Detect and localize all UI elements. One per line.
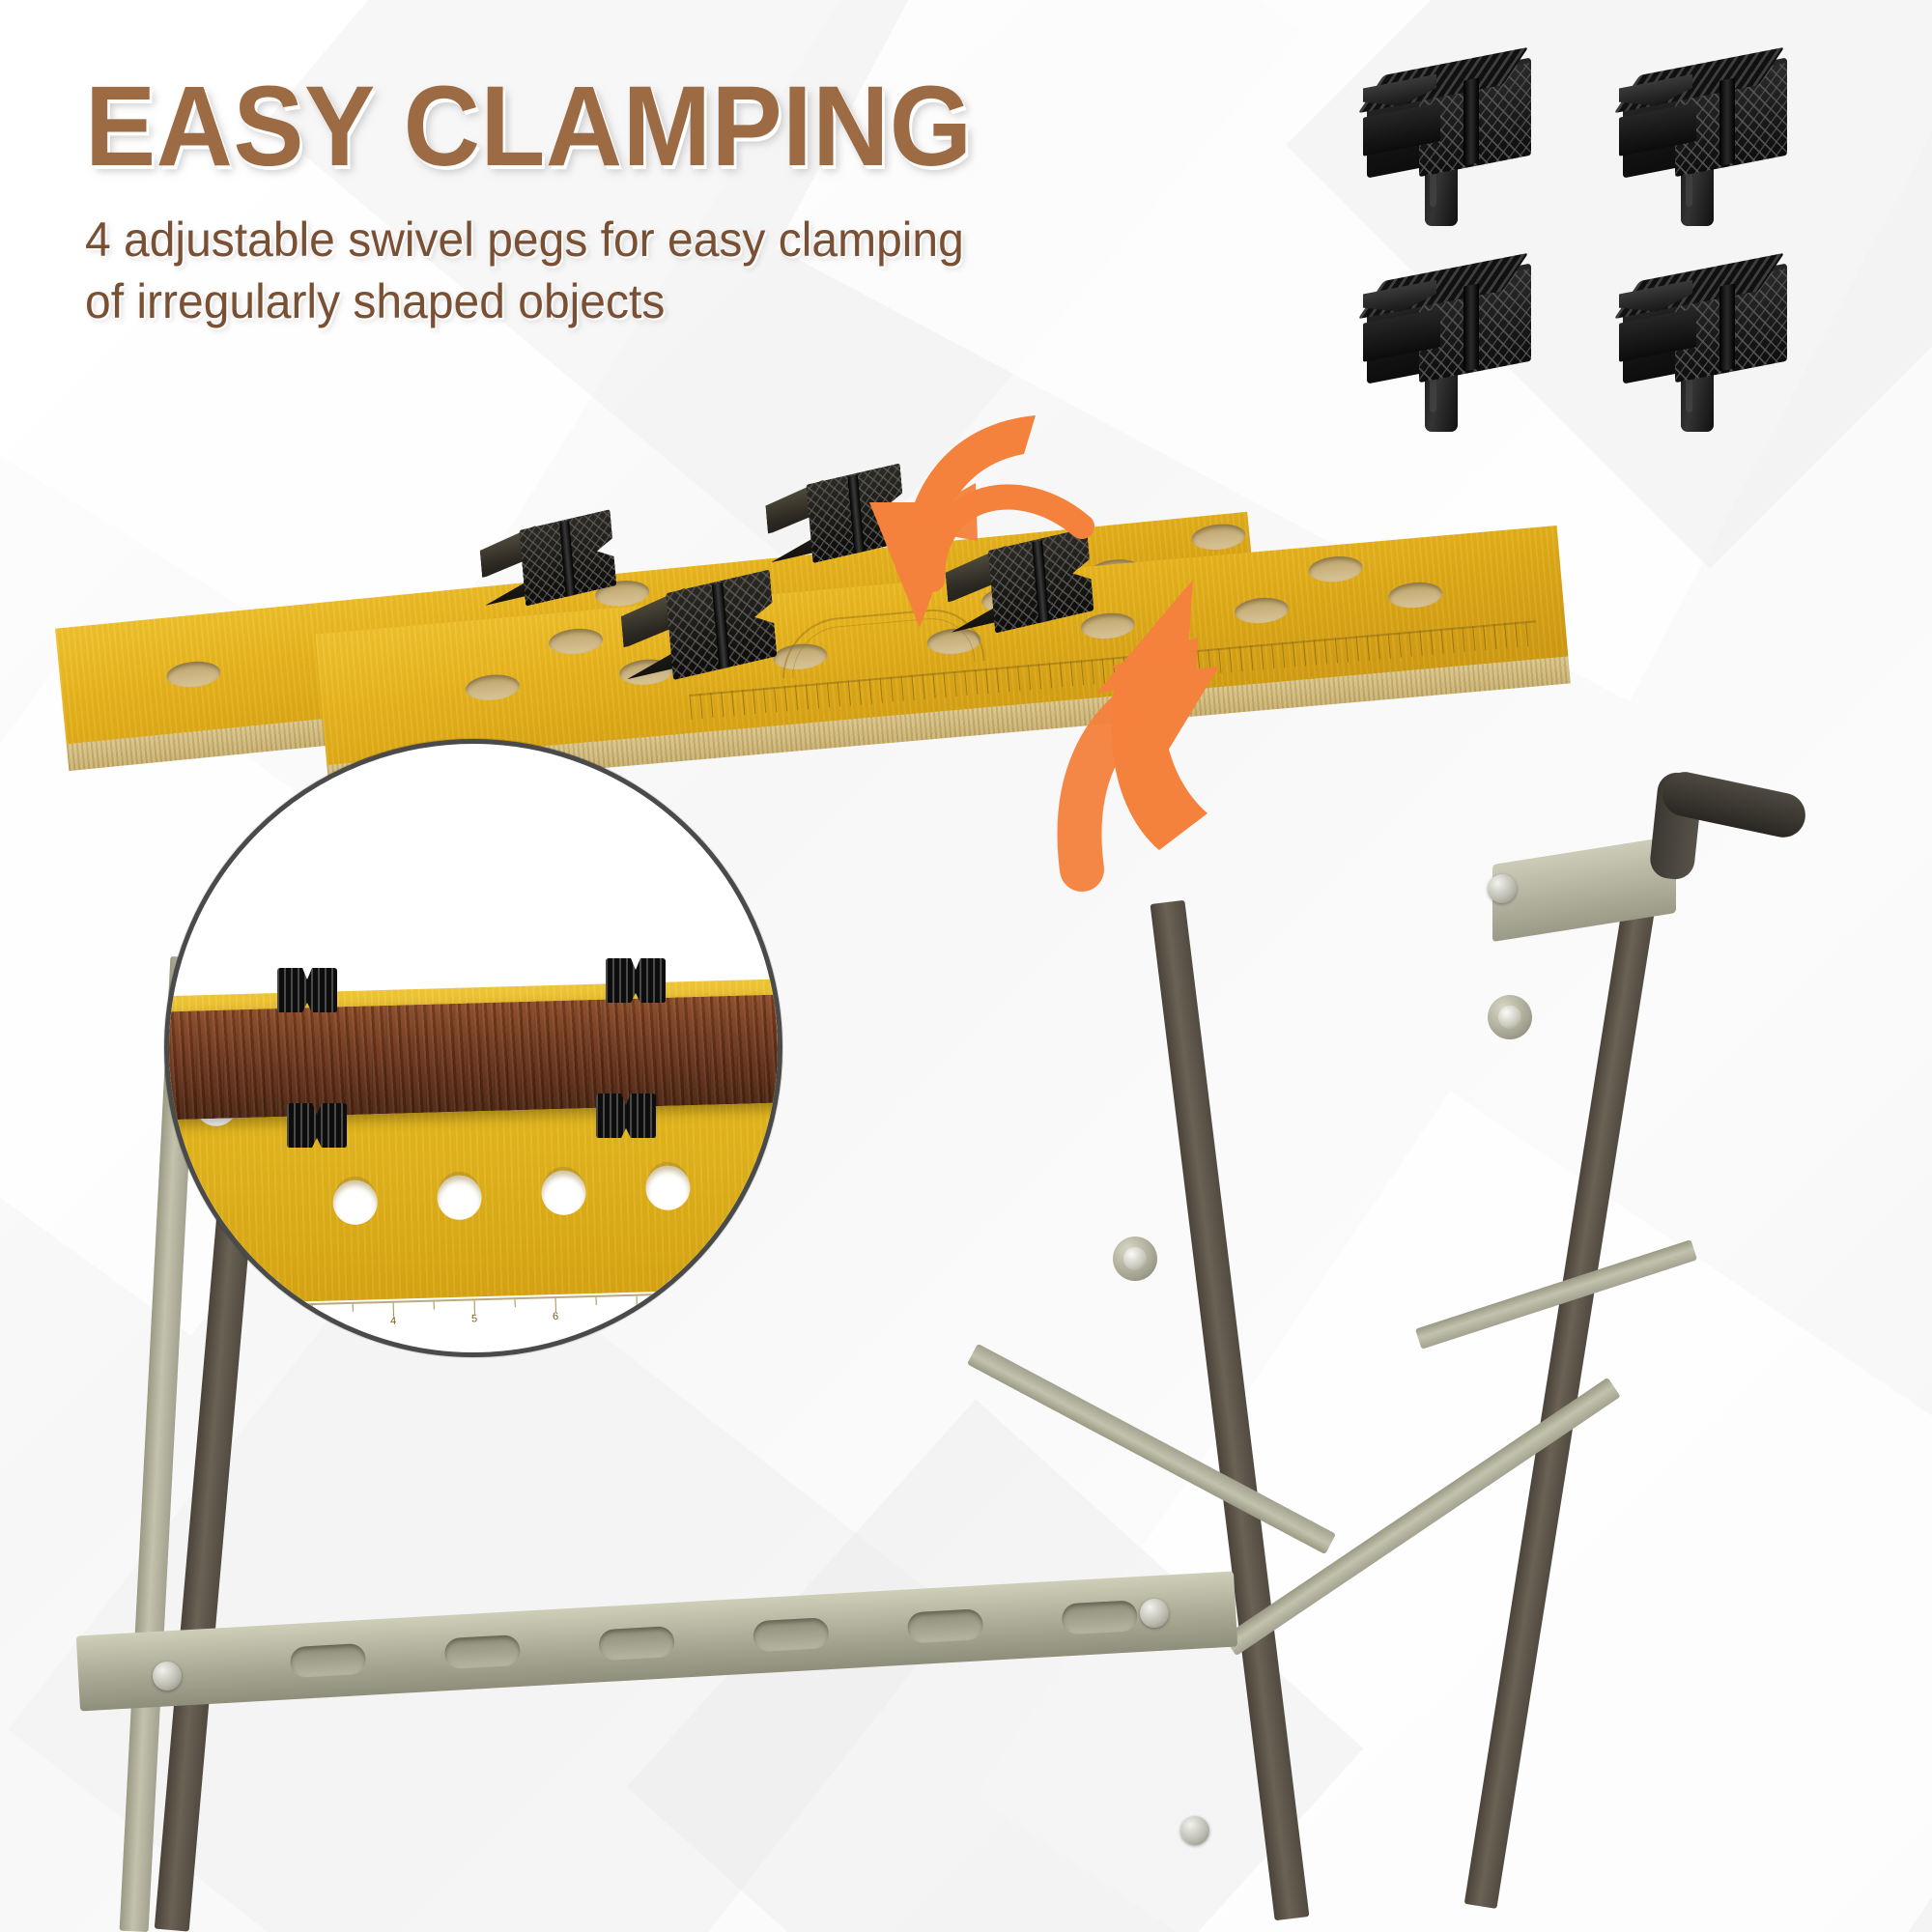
brace-slot (444, 1634, 522, 1669)
subtitle-line-2: of irregularly shaped objects (85, 270, 1012, 332)
peg-icon (1355, 262, 1548, 431)
headline-block: EASY CLAMPING 4 adjustable swivel pegs f… (85, 70, 1051, 332)
magnified-detail-circle: 1 2 3 4 5 6 7 8 9 (164, 739, 782, 1357)
bolt (153, 1662, 182, 1690)
bench-peg-3 (618, 577, 778, 683)
bench-peg-1 (478, 516, 618, 609)
pegboard-hole (645, 1165, 691, 1210)
pegboard-hole (332, 1179, 378, 1225)
inset-peg-top-right (606, 958, 666, 1003)
inset-peg-bottom-left (287, 1103, 347, 1148)
peg-icon (1611, 262, 1804, 431)
plank-hole (1190, 522, 1246, 552)
swivel-peg-3 (1348, 256, 1594, 456)
swivel-peg-2 (1604, 50, 1850, 250)
peg-groove (1719, 283, 1735, 371)
brace-slot (907, 1608, 984, 1643)
plank-hole (465, 672, 521, 702)
plank-hole (1308, 554, 1364, 584)
pegboard-hole (541, 1170, 586, 1215)
peg-groove (1463, 283, 1479, 371)
subtitle-line-1: 4 adjustable swivel pegs for easy clampi… (85, 209, 1012, 270)
inset-peg-top-left (277, 968, 337, 1012)
inset-clamped-wood (164, 993, 782, 1122)
swivel-peg-1 (1348, 50, 1594, 250)
bench-peg-2 (763, 469, 908, 565)
pegboard-hole (750, 1160, 782, 1206)
bench-peg-4 (943, 535, 1094, 637)
brace-slot (1062, 1600, 1139, 1634)
brace-slot (290, 1643, 367, 1678)
pivot-joint-right (1113, 1236, 1157, 1281)
inset-clamp-left (237, 1279, 279, 1347)
brace-diagonal-upper (967, 1344, 1336, 1554)
subtitle: 4 adjustable swivel pegs for easy clampi… (85, 209, 1012, 332)
bottom-cross-brace (76, 1572, 1237, 1712)
inset-peg-bottom-right (596, 1094, 656, 1138)
bolt (1488, 874, 1517, 903)
peg-groove (1463, 77, 1479, 165)
page-title: EASY CLAMPING (85, 70, 983, 184)
bolt (1180, 1816, 1209, 1845)
plank-hole (548, 627, 604, 657)
plank-hole (1387, 581, 1443, 611)
brace-slot (753, 1617, 830, 1652)
inset-clamp-right (668, 1279, 710, 1347)
pivot-joint-lower (1488, 995, 1532, 1039)
plank-hole (165, 659, 221, 689)
bolt (1140, 1599, 1169, 1628)
peg-icon (1355, 56, 1548, 225)
brace-slot (598, 1626, 675, 1661)
pegboard-hole (437, 1175, 482, 1220)
peg-groove (1719, 77, 1735, 165)
swivel-peg-grid (1348, 50, 1850, 456)
leg-front-right (1151, 900, 1310, 1920)
peg-icon (1611, 56, 1804, 225)
plank-hole (1234, 596, 1290, 626)
swivel-peg-4 (1604, 256, 1850, 456)
